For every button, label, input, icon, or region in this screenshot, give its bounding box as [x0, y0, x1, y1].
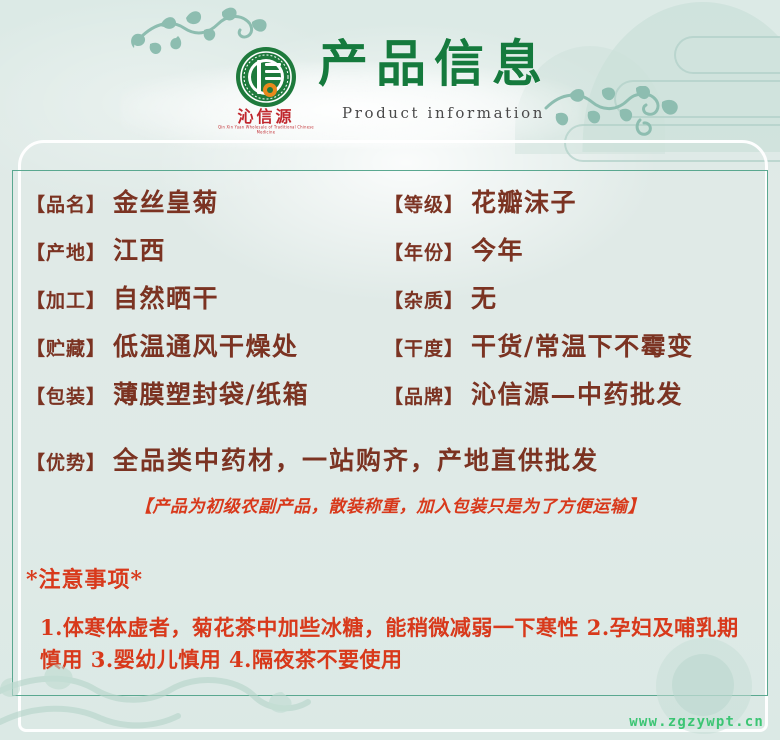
info-value: 薄膜塑封袋/纸箱: [113, 375, 309, 411]
page-subtitle: Product information: [342, 104, 545, 122]
info-cell-baozhuang: 【包装】 薄膜塑封袋/纸箱: [26, 375, 384, 411]
info-cell-youshi: 【优势】 全品类中药材，一站购齐，产地直供批发: [26, 441, 599, 477]
product-info-table: 【品名】 金丝皇菊 【等级】 花瓣沫子 【产地】 江西 【年份】 今年 【加工】…: [0, 183, 780, 423]
logo-name-cn: 沁信源: [216, 109, 316, 125]
info-label: 【干度】: [384, 334, 464, 361]
info-label: 【杂质】: [384, 286, 464, 313]
info-value: 干货/常温下不霉变: [471, 327, 694, 363]
info-label: 【品牌】: [384, 382, 464, 409]
info-cell-zhucang: 【贮藏】 低温通风干燥处: [26, 327, 384, 363]
info-cell-jiagong: 【加工】 自然晒干: [26, 279, 384, 315]
info-label: 【等级】: [384, 190, 464, 217]
info-cell-zazhi: 【杂质】 无: [384, 279, 780, 315]
info-label: 【优势】: [26, 448, 106, 475]
info-cell-pinming: 【品名】 金丝皇菊: [26, 183, 384, 219]
logo-name-en: Qin Xin Yuan Wholesale of Traditional Ch…: [216, 126, 316, 135]
vine-ornament-right: [540, 86, 690, 144]
info-value: 今年: [471, 231, 524, 267]
info-label: 【品名】: [26, 190, 106, 217]
info-value: 全品类中药材，一站购齐，产地直供批发: [113, 441, 599, 477]
notice-heading: *注意事项*: [26, 562, 143, 594]
table-row: 【贮藏】 低温通风干燥处 【干度】 干货/常温下不霉变: [0, 327, 780, 375]
table-row: 【产地】 江西 【年份】 今年: [0, 231, 780, 279]
info-label: 【年份】: [384, 238, 464, 265]
info-value: 金丝皇菊: [113, 183, 219, 219]
corner-circle-ornament-inner: [672, 654, 734, 716]
info-label: 【包装】: [26, 382, 106, 409]
info-cell-dengji: 【等级】 花瓣沫子: [384, 183, 780, 219]
info-value: 自然晒干: [113, 279, 219, 315]
product-info-page: 沁信源 Qin Xin Yuan Wholesale of Traditiona…: [0, 0, 780, 740]
info-value: 低温通风干燥处: [113, 327, 299, 363]
info-value: 江西: [113, 231, 166, 267]
info-label: 【加工】: [26, 286, 106, 313]
brand-logo: 沁信源 Qin Xin Yuan Wholesale of Traditiona…: [216, 46, 316, 138]
info-cell-nianfen: 【年份】 今年: [384, 231, 780, 267]
info-label: 【产地】: [26, 238, 106, 265]
site-watermark: www.zgzywpt.cn: [629, 714, 764, 730]
info-cell-gandu: 【干度】 干货/常温下不霉变: [384, 327, 780, 363]
page-title: 产品信息: [318, 36, 550, 91]
info-cell-chandi: 【产地】 江西: [26, 231, 384, 267]
info-value: 无: [471, 279, 498, 315]
page-header: 沁信源 Qin Xin Yuan Wholesale of Traditiona…: [0, 0, 780, 150]
brand-emblem-icon: [235, 46, 297, 108]
info-cell-pinpai: 【品牌】 沁信源—中药批发: [384, 375, 780, 411]
info-value: 沁信源—中药批发: [471, 375, 683, 411]
table-row: 【品名】 金丝皇菊 【等级】 花瓣沫子: [0, 183, 780, 231]
packaging-disclaimer: 【产品为初级农副产品，散装称重，加入包装只是为了方便运输】: [0, 492, 780, 517]
table-row: 【加工】 自然晒干 【杂质】 无: [0, 279, 780, 327]
info-value: 花瓣沫子: [471, 183, 577, 219]
table-row: 【包装】 薄膜塑封袋/纸箱 【品牌】 沁信源—中药批发: [0, 375, 780, 423]
info-label: 【贮藏】: [26, 334, 106, 361]
